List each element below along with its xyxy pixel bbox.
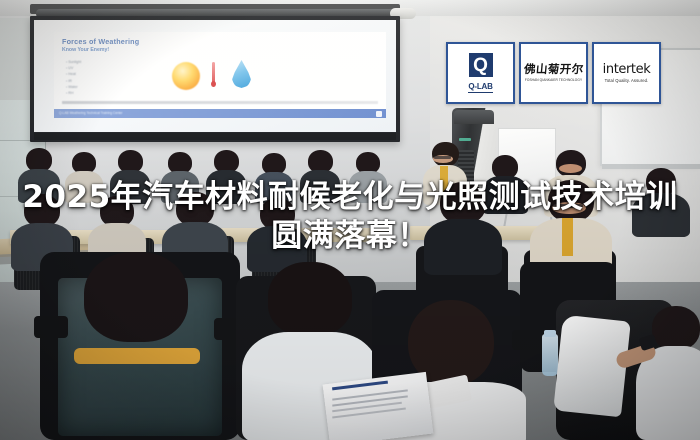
- foshan-calligraphy-wordmark: 佛山菊开尔: [523, 64, 584, 76]
- projection-screen: Forces of Weathering Know Your Enemy! Su…: [30, 16, 400, 142]
- slide-footer: Q-LAB Weathering Technical Training Cent…: [54, 109, 386, 118]
- water-drop-icon: [232, 60, 251, 88]
- headline-line-2: 圆满落幕！: [0, 216, 700, 256]
- logo-card-q-lab: Q Q-LAB: [446, 42, 515, 104]
- training-event-banner: Forces of Weathering Know Your Enemy! Su…: [0, 0, 700, 440]
- screen-bottom-bar: [34, 133, 396, 140]
- slide-bullet-list: Sunlight UV Heat IR Water RH: [66, 59, 136, 96]
- sun-icon: [172, 62, 200, 90]
- whiteboard-tray: [602, 164, 700, 169]
- sponsor-logo-bar: Q Q-LAB 佛山菊开尔 FOSHAN QIANKAIER TECHNOLOG…: [446, 42, 661, 104]
- q-lab-wordmark: Q-LAB: [468, 83, 492, 93]
- intertek-tagline: Total Quality. Assured.: [603, 79, 651, 83]
- foshan-tagline: FOSHAN QIANKAIER TECHNOLOGY: [524, 79, 584, 82]
- banner-headline: 2025年汽车材料耐候老化与光照测试技术培训 圆满落幕！: [0, 178, 700, 256]
- water-bottle: [542, 334, 558, 376]
- slide-footnote: [62, 101, 378, 104]
- slide-title: Forces of Weathering: [62, 37, 139, 46]
- thermometer-icon: [211, 62, 216, 90]
- list-item: RH: [66, 90, 136, 96]
- slide-subtitle: Know Your Enemy!: [62, 47, 109, 53]
- headline-line-1: 2025年汽车材料耐候老化与光照测试技术培训: [0, 178, 700, 216]
- logo-card-foshan: 佛山菊开尔 FOSHAN QIANKAIER TECHNOLOGY: [519, 42, 588, 104]
- presentation-slide: Forces of Weathering Know Your Enemy! Su…: [54, 32, 386, 118]
- slide-footer-badge: [376, 111, 382, 117]
- intertek-wordmark: intertek: [603, 63, 651, 76]
- q-lab-mark-icon: Q: [469, 53, 493, 77]
- screen-surface: Forces of Weathering Know Your Enemy! Su…: [34, 20, 396, 132]
- logo-card-intertek: intertek Total Quality. Assured.: [592, 42, 661, 104]
- slide-footer-text: Q-LAB Weathering Technical Training Cent…: [59, 111, 123, 115]
